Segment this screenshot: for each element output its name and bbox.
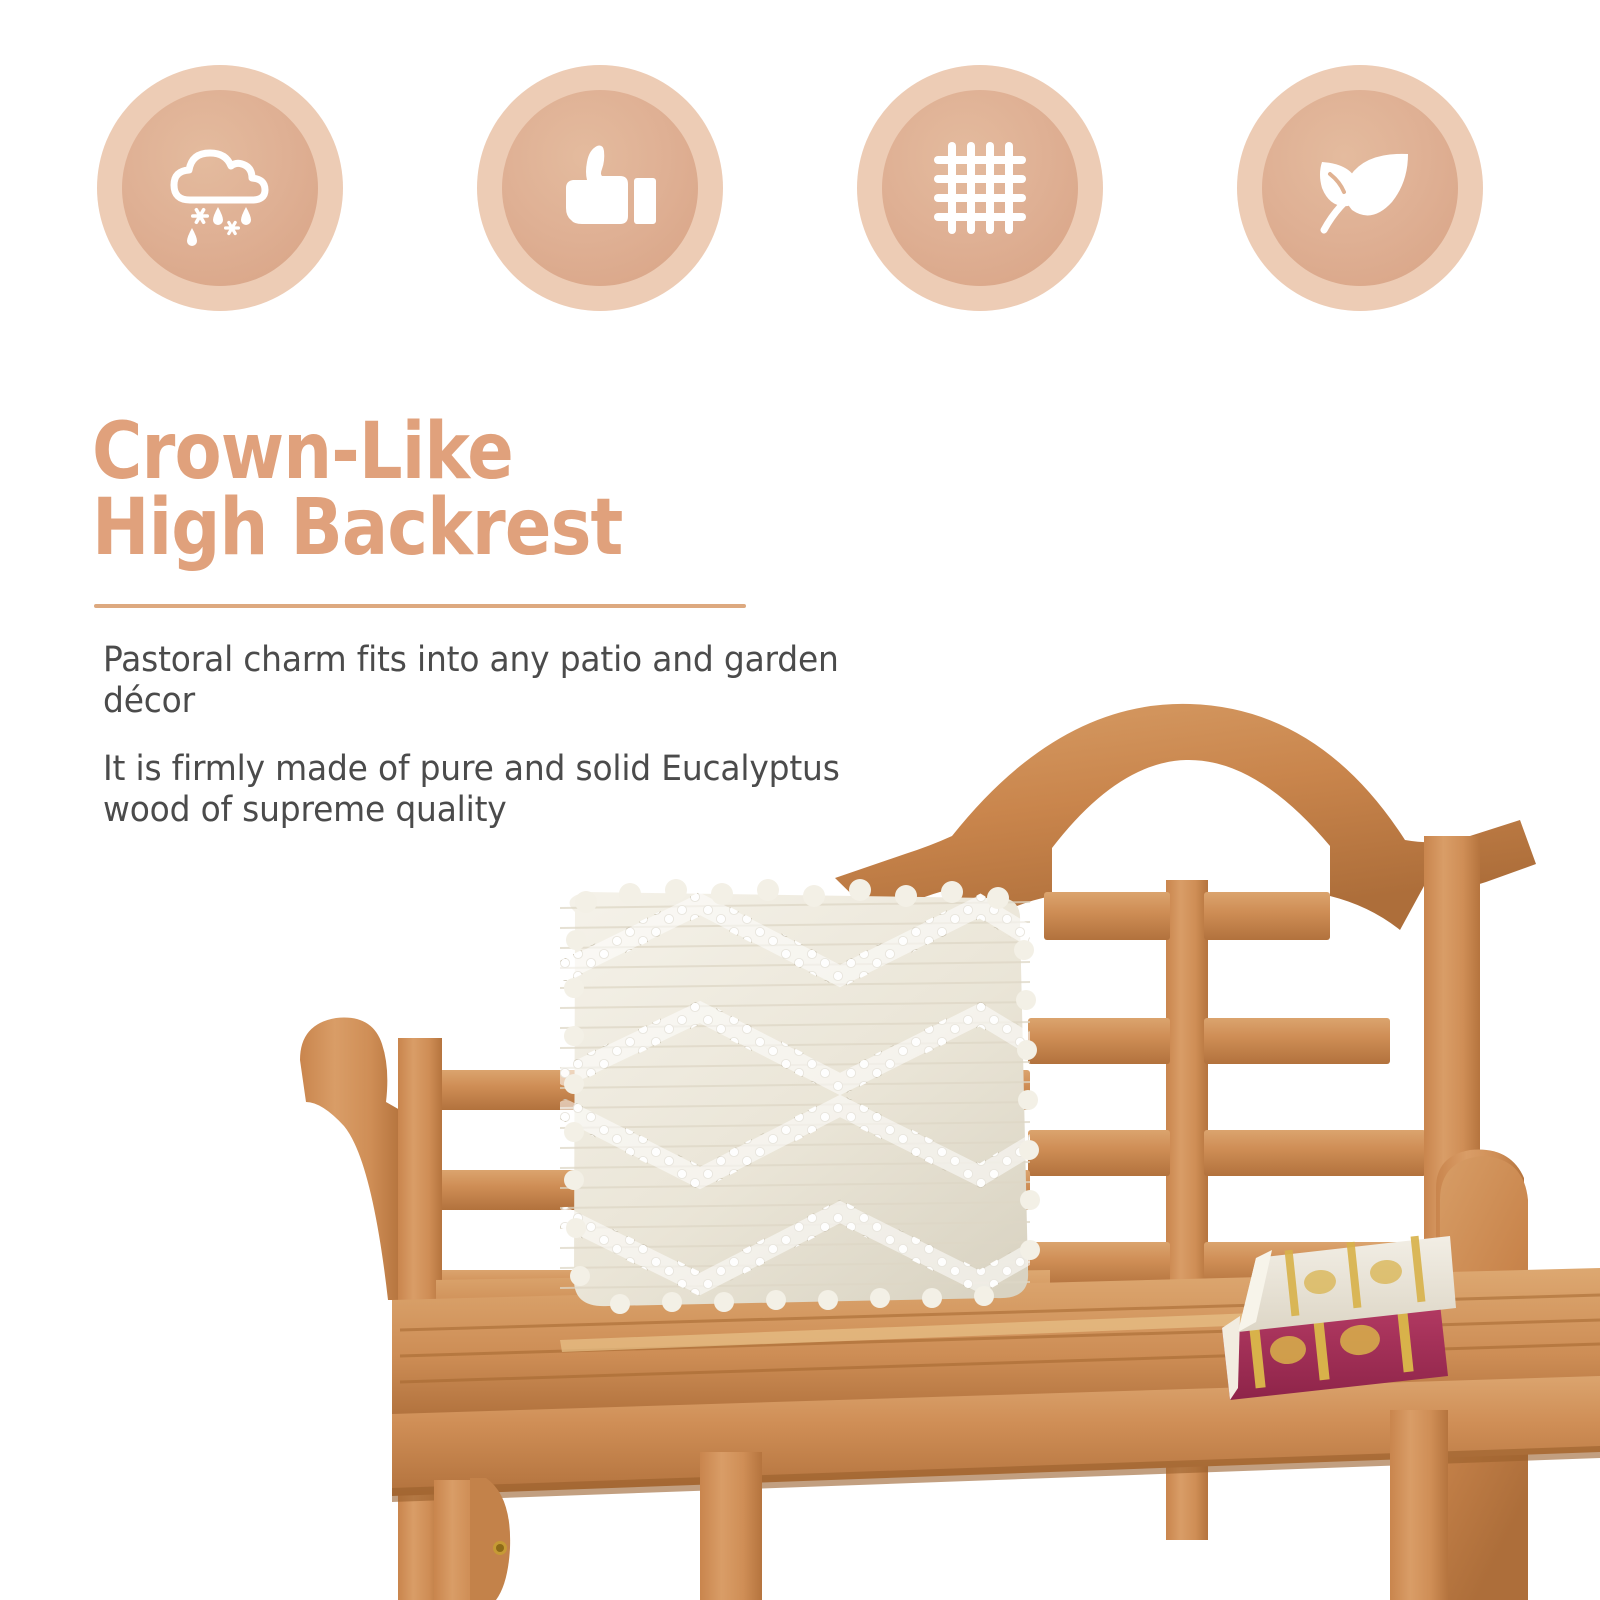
textured-throw-pillow <box>560 879 1040 1314</box>
badge-all-weather-resistant <box>97 65 343 311</box>
eucalyptus-garden-bench-illustration <box>0 640 1600 1600</box>
lattice-grid-icon <box>920 128 1040 248</box>
decorative-books <box>1222 1236 1456 1400</box>
feature-badge-row <box>0 65 1600 311</box>
badge-inner-circle <box>502 90 698 286</box>
leaf-icon <box>1300 128 1420 248</box>
product-photo <box>0 640 1600 1600</box>
badge-quality-approved <box>477 65 723 311</box>
page-title-line-2: High Backrest <box>92 491 831 567</box>
product-feature-banner: Crown-Like High Backrest Pastoral charm … <box>0 0 1600 1600</box>
badge-inner-circle <box>1262 90 1458 286</box>
page-title: Crown-Like High Backrest <box>92 415 831 566</box>
badge-eco-friendly-wood <box>1237 65 1483 311</box>
badge-inner-circle <box>882 90 1078 286</box>
badge-slatted-construction <box>857 65 1103 311</box>
badge-inner-circle <box>122 90 318 286</box>
weather-rain-snow-icon <box>160 128 280 248</box>
title-divider <box>94 604 746 608</box>
thumbs-up-icon <box>540 128 660 248</box>
